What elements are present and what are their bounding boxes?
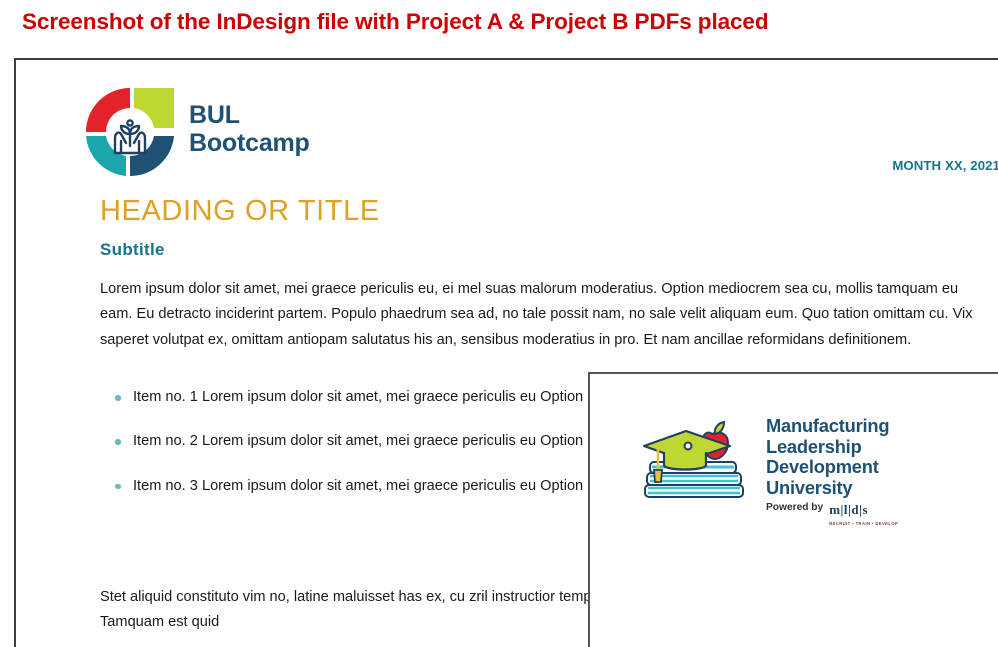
- bul-wordmark-line1: BUL: [189, 101, 310, 129]
- project-b-page[interactable]: Manufacturing Leadership Development Uni…: [588, 372, 998, 647]
- graduation-cap-books-apple-icon: [642, 420, 760, 506]
- powered-by-label: Powered by: [766, 501, 823, 513]
- bul-bootcamp-logo: BUL Bootcamp: [82, 84, 340, 180]
- mlds-tagline: RECRUIT • TRAIN • DEVELOP: [829, 521, 903, 526]
- mldu-word-line4: University: [766, 478, 889, 499]
- bul-bootcamp-wordmark: BUL Bootcamp: [189, 101, 310, 157]
- bul-bootcamp-mark-icon: [82, 84, 178, 180]
- screenshot-root: Screenshot of the InDesign file with Pro…: [0, 0, 998, 647]
- document-paragraph: Lorem ipsum dolor sit amet, mei graece p…: [100, 277, 984, 353]
- mlds-letters: m|l|d|s: [829, 502, 868, 517]
- mldu-word-line3: Development: [766, 457, 889, 478]
- bul-wordmark-line2: Bootcamp: [189, 129, 310, 157]
- page-title: Screenshot of the InDesign file with Pro…: [22, 9, 982, 35]
- indesign-document-frame: BUL Bootcamp MONTH XX, 2021 HEADING OR T…: [14, 58, 998, 647]
- document-date: MONTH XX, 2021: [892, 158, 998, 173]
- mldu-word-line2: Leadership: [766, 437, 889, 458]
- mldu-logo: Manufacturing Leadership Development Uni…: [642, 416, 942, 514]
- bullet-dot-icon: [115, 395, 121, 401]
- bullet-dot-icon: [115, 439, 121, 445]
- document-heading: HEADING OR TITLE: [100, 195, 380, 228]
- mldu-powered-by: Powered by m|l|d|s RECRUIT • TRAIN • DEV…: [766, 501, 903, 523]
- mlds-logo: m|l|d|s RECRUIT • TRAIN • DEVELOP: [829, 501, 903, 523]
- document-subtitle: Subtitle: [100, 240, 165, 260]
- bullet-dot-icon: [115, 484, 121, 490]
- mldu-wordmark: Manufacturing Leadership Development Uni…: [766, 416, 889, 499]
- mldu-word-line1: Manufacturing: [766, 416, 889, 437]
